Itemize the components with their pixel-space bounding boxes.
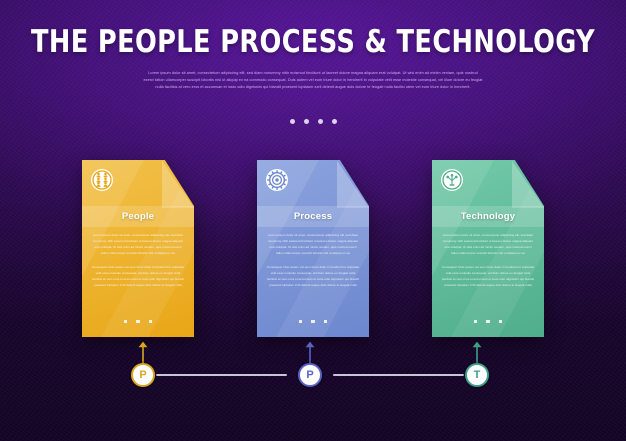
- card-dot: [124, 320, 128, 324]
- card-title-band: People: [82, 206, 194, 227]
- card-dot: [474, 320, 478, 324]
- card-dot: [324, 320, 328, 324]
- card-dots: [82, 320, 194, 324]
- card-dot: [311, 320, 315, 324]
- timeline-marker[interactable]: T: [465, 363, 489, 387]
- card-paragraph-2: Consequat. Duis autem vel eum iriure dol…: [91, 264, 185, 288]
- people-grid-icon: [91, 169, 113, 191]
- card-body: Lorem ipsum dolor sit amet, consectetuer…: [266, 232, 360, 288]
- card-paragraph-1: Lorem ipsum dolor sit amet, consectetuer…: [91, 232, 185, 256]
- page-subtitle: Lorem ipsum dolor sit amet, consectetuer…: [143, 70, 483, 91]
- timeline-marker-letter: T: [474, 370, 481, 381]
- timeline-connector-2: [333, 374, 464, 376]
- card-dot: [499, 320, 503, 324]
- card-paragraph-2: Consequat. Duis autem vel eum iriure dol…: [266, 264, 360, 288]
- card-paragraph-1: Lorem ipsum dolor sit amet, consectetuer…: [441, 232, 535, 256]
- gear-target-icon: [266, 169, 288, 191]
- timeline-arrow-up-icon: [304, 341, 316, 365]
- page-title: THE PEOPLE PROCESS & TECHNOLOGY: [25, 27, 601, 58]
- card-dot: [136, 320, 140, 324]
- card-body: Lorem ipsum dolor sit amet, consectetuer…: [91, 232, 185, 288]
- timeline-node-3[interactable]: T: [454, 341, 500, 397]
- card-dot: [149, 320, 153, 324]
- timeline-marker-letter: P: [139, 370, 146, 381]
- card-dot: [486, 320, 490, 324]
- header-dot: [332, 119, 337, 124]
- card-title-band: Technology: [432, 206, 544, 227]
- card-process[interactable]: ProcessLorem ipsum dolor sit amet, conse…: [257, 160, 369, 337]
- card-paragraph-1: Lorem ipsum dolor sit amet, consectetuer…: [266, 232, 360, 256]
- card-list: PeopleLorem ipsum dolor sit amet, consec…: [0, 160, 626, 337]
- card-dot: [299, 320, 303, 324]
- timeline-arrow-up-icon: [471, 341, 483, 365]
- timeline: PPT: [0, 341, 626, 397]
- card-body: Lorem ipsum dolor sit amet, consectetuer…: [441, 232, 535, 288]
- card-title: People: [122, 211, 154, 222]
- card-paragraph-2: Consequat. Duis autem vel eum iriure dol…: [441, 264, 535, 288]
- timeline-node-1[interactable]: P: [120, 341, 166, 397]
- timeline-connector-1: [156, 374, 287, 376]
- card-title: Process: [294, 211, 332, 222]
- timeline-marker[interactable]: P: [131, 363, 155, 387]
- header-dot: [318, 119, 323, 124]
- network-tech-icon: [441, 169, 463, 191]
- header-dot: [304, 119, 309, 124]
- card-dots: [432, 320, 544, 324]
- card-technology[interactable]: TechnologyLorem ipsum dolor sit amet, co…: [432, 160, 544, 337]
- header-dot: [290, 119, 295, 124]
- card-people[interactable]: PeopleLorem ipsum dolor sit amet, consec…: [82, 160, 194, 337]
- card-title: Technology: [461, 211, 516, 222]
- timeline-marker[interactable]: P: [298, 363, 322, 387]
- header-dots: [0, 119, 626, 124]
- timeline-marker-letter: P: [306, 370, 313, 381]
- card-title-band: Process: [257, 206, 369, 227]
- card-dots: [257, 320, 369, 324]
- infographic-stage: THE PEOPLE PROCESS & TECHNOLOGY Lorem ip…: [0, 0, 626, 441]
- timeline-arrow-up-icon: [137, 341, 149, 365]
- timeline-node-2[interactable]: P: [287, 341, 333, 397]
